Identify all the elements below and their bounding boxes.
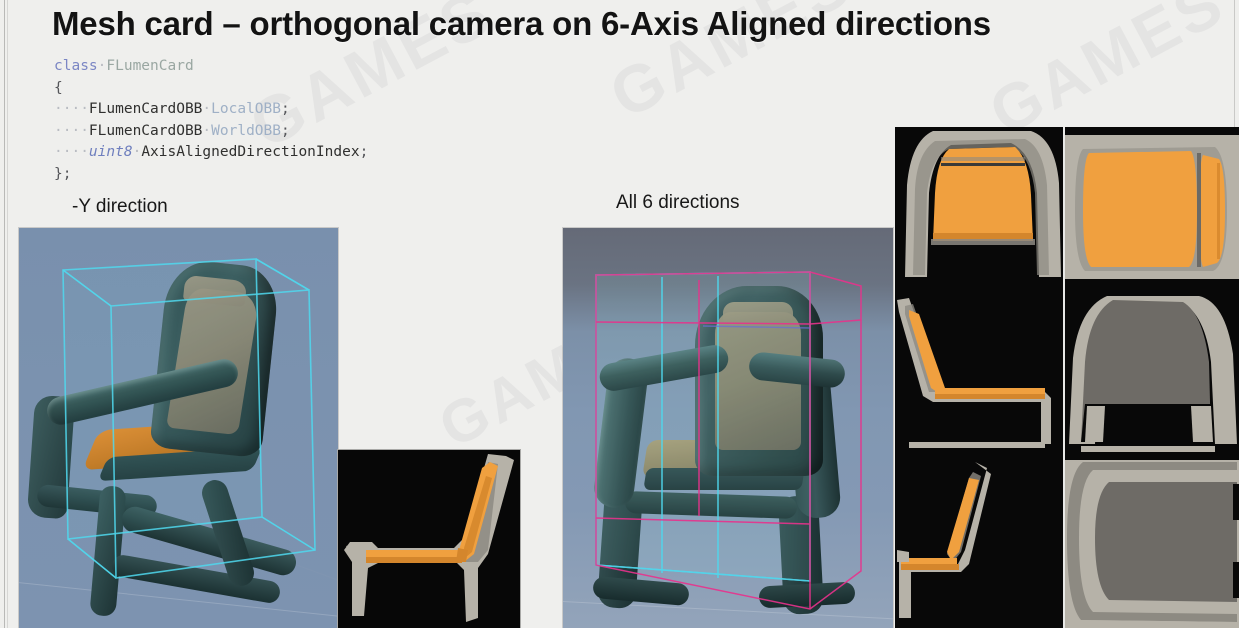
card-render-svg [895,296,1063,454]
code-line: { [54,78,368,100]
code-token: uint8 [89,144,133,160]
code-token: ; [281,101,290,117]
card-render-svg [895,454,1063,628]
minus-y-direction-viewport [19,228,338,628]
all-6-directions-viewport [563,228,893,628]
code-token: WorldOBB [211,123,281,139]
code-indent-guide: ···· [54,144,89,160]
chair-mesh [19,228,338,628]
slide-left-edge-line [4,0,5,628]
code-token: ; [360,144,369,160]
code-token: LocalOBB [211,101,281,117]
chair-mesh [563,228,893,628]
code-indent-guide: ···· [54,101,89,117]
card-render-svg [1065,454,1239,628]
minus-y-card-render [338,450,520,628]
card-render-side-right [895,454,1063,628]
code-line: ····FLumenCardOBB·WorldOBB; [54,121,368,143]
card-render-svg [1065,127,1239,296]
code-block: class·FLumenCard{····FLumenCardOBB·Local… [54,56,368,185]
code-token: AxisAlignedDirectionIndex [141,144,359,160]
slide-canvas: GAMES GAMES GAMES GAMES GAMES Mesh card … [0,0,1239,628]
code-line: ····FLumenCardOBB·LocalOBB; [54,99,368,121]
code-line: ····uint8·AxisAlignedDirectionIndex; [54,142,368,164]
code-line: }; [54,164,368,186]
code-indent-guide: ···· [54,123,89,139]
slide-title: Mesh card – orthogonal camera on 6-Axis … [52,5,991,43]
card-render-front [895,127,1063,296]
code-token: class [54,58,98,74]
six-axis-card-renders [895,127,1239,628]
card-render-back [1065,296,1239,454]
code-token: }; [54,166,71,182]
code-token: ; [281,123,290,139]
code-line: class·FLumenCard [54,56,368,78]
card-render-top [1065,127,1239,296]
card-render-bottom [1065,454,1239,628]
code-token: FLumenCardOBB [89,101,203,117]
code-token: FLumenCard [106,58,193,74]
caption-right: All 6 directions [616,192,740,214]
caption-left: -Y direction [72,196,168,218]
code-token: { [54,80,63,96]
card-render-side-left [895,296,1063,454]
code-token: · [133,144,142,160]
code-token: · [202,101,211,117]
slide-left-edge-line-2 [7,0,8,628]
card-render-svg [895,127,1063,296]
code-token: · [202,123,211,139]
code-token: FLumenCardOBB [89,123,203,139]
card-render-svg [1065,296,1239,454]
card-render-svg [338,450,520,628]
